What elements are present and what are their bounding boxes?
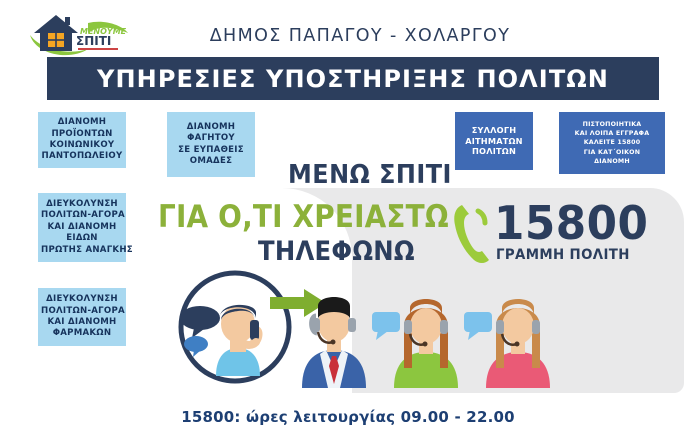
line: ΟΜΑΔΕΣ	[170, 156, 252, 167]
line: ΠΟΛΙΤΩΝ-ΑΓΟΡΑ	[41, 210, 123, 221]
service-box-farmaka-lines: ΔΙΕΥΚΟΛΥΝΣΗ ΠΟΛΙΤΩΝ-ΑΓΟΡΑ ΚΑΙ ΔΙΑΝΟΜΗ ΦΑ…	[41, 294, 123, 339]
service-box-pistopoiitika[interactable]: ΠΙΣΤΟΠΟΙΗΤΙΚΑ ΚΑΙ ΛΟΙΠΑ ΕΓΓΡΑΦΑ ΚΑΛΕΙΤΕ …	[559, 112, 665, 174]
svg-text:ΣΠΙΤΙ: ΣΠΙΤΙ	[76, 34, 111, 48]
service-box-agora-eidon[interactable]: ΔΙΕΥΚΟΛΥΝΣΗ ΠΟΛΙΤΩΝ-ΑΓΟΡΑ ΚΑΙ ΔΙΑΝΟΜΗ ΕΙ…	[38, 193, 126, 262]
line: ΠΡΩΤΗΣ ΑΝΑΓΚΗΣ	[41, 245, 123, 256]
service-box-pistopoiitika-lines: ΠΙΣΤΟΠΟΙΗΤΙΚΑ ΚΑΙ ΛΟΙΠΑ ΕΓΓΡΑΦΑ ΚΑΛΕΙΤΕ …	[562, 120, 662, 166]
phone-handset-icon	[452, 203, 494, 265]
agent-female-pink-top	[486, 299, 550, 388]
line: ΠΟΛΙΤΩΝ	[458, 146, 530, 157]
operating-hours-footer: 15800: ώρες λειτουργίας 09.00 - 22.00	[0, 408, 696, 426]
municipality-title: ΔΗΜΟΣ ΠΑΠΑΓΟΥ - ΧΟΛΑΡΓΟΥ	[150, 26, 570, 46]
line: ΚΑΙ ΔΙΑΝΟΜΗ	[41, 317, 123, 328]
line: ΠΙΣΤΟΠΟΙΗΤΙΚΑ	[562, 120, 662, 129]
line: ΠΑΝΤΟΠΩΛΕΙΟΥ	[41, 151, 123, 162]
line: ΦΑΡΜΑΚΩΝ	[41, 328, 123, 339]
line: ΚΑΙ ΔΙΑΝΟΜΗ	[41, 222, 123, 233]
line: ΔΙΑΝΟΜΗ	[41, 117, 123, 128]
service-box-farmaka[interactable]: ΔΙΕΥΚΟΛΥΝΣΗ ΠΟΛΙΤΩΝ-ΑΓΟΡΑ ΚΑΙ ΔΙΑΝΟΜΗ ΦΑ…	[38, 288, 126, 346]
speech-bubble-2	[464, 312, 492, 340]
hotline-caption: ΓΡΑΜΜΗ ΠΟΛΙΤΗ	[496, 247, 630, 263]
line: ΣΥΛΛΟΓΗ	[458, 125, 530, 136]
slogan-line-tilefono: ΤΗΛΕΦΩΝΩ	[258, 236, 415, 267]
line: ΓΙΑ ΚΑΤ´ΟΙΚΟΝ	[562, 148, 662, 157]
line: ΑΙΤΗΜΑΤΩΝ	[458, 136, 530, 147]
line: ΣΕ ΕΥΠΑΘΕΙΣ	[170, 145, 252, 156]
call-center-agents-illustration	[296, 276, 554, 388]
infographic-poster: ΜΕΝΟΥΜΕ ΣΠΙΤΙ ΔΗΜΟΣ ΠΑΠΑΓΟΥ - ΧΟΛΑΡΓΟΥ Υ…	[0, 0, 696, 447]
line: ΔΙΕΥΚΟΛΥΝΣΗ	[41, 294, 123, 305]
service-box-fagito[interactable]: ΔΙΑΝΟΜΗ ΦΑΓΗΤΟΥ ΣΕ ΕΥΠΑΘΕΙΣ ΟΜΑΔΕΣ	[167, 112, 255, 177]
line: ΔΙΑΝΟΜΗ	[170, 122, 252, 133]
line: ΚΑΙ ΛΟΙΠΑ ΕΓΓΡΑΦΑ	[562, 129, 662, 138]
agent-male-navy-suit	[302, 297, 366, 388]
service-box-pantopoleio-lines: ΔΙΑΝΟΜΗ ΠΡΟΪΟΝΤΩΝ ΚΟΙΝΩΝΙΚΟΥ ΠΑΝΤΟΠΩΛΕΙΟ…	[41, 117, 123, 162]
citizen-calling-illustration	[176, 268, 294, 386]
line: ΦΑΓΗΤΟΥ	[170, 133, 252, 144]
menoume-spiti-logo: ΜΕΝΟΥΜΕ ΣΠΙΤΙ	[26, 9, 132, 61]
line: ΔΙΕΥΚΟΛΥΝΣΗ	[41, 199, 123, 210]
line: ΠΟΛΙΤΩΝ-ΑΓΟΡΑ	[41, 306, 123, 317]
service-box-agora-eidon-lines: ΔΙΕΥΚΟΛΥΝΣΗ ΠΟΛΙΤΩΝ-ΑΓΟΡΑ ΚΑΙ ΔΙΑΝΟΜΗ ΕΙ…	[41, 199, 123, 256]
agent-female-green-top	[394, 299, 458, 388]
line: ΚΟΙΝΩΝΙΚΟΥ	[41, 140, 123, 151]
service-box-aitimata-lines: ΣΥΛΛΟΓΗ ΑΙΤΗΜΑΤΩΝ ΠΟΛΙΤΩΝ	[458, 125, 530, 157]
service-box-pantopoleio[interactable]: ΔΙΑΝΟΜΗ ΠΡΟΪΟΝΤΩΝ ΚΟΙΝΩΝΙΚΟΥ ΠΑΝΤΟΠΩΛΕΙΟ…	[38, 112, 126, 168]
line: ΠΡΟΪΟΝΤΩΝ	[41, 129, 123, 140]
services-banner: ΥΠΗΡΕΣΙΕΣ ΥΠΟΣΤΗΡΙΞΗΣ ΠΟΛΙΤΩΝ	[47, 57, 659, 100]
slogan-line-gia-oti-chreiasto: ΓΙΑ Ο,ΤΙ ΧΡΕΙΑΣΤΩ	[158, 199, 449, 235]
service-box-fagito-lines: ΔΙΑΝΟΜΗ ΦΑΓΗΤΟΥ ΣΕ ΕΥΠΑΘΕΙΣ ΟΜΑΔΕΣ	[170, 122, 252, 167]
service-box-aitimata[interactable]: ΣΥΛΛΟΓΗ ΑΙΤΗΜΑΤΩΝ ΠΟΛΙΤΩΝ	[455, 112, 533, 170]
speech-bubble-1	[372, 312, 400, 340]
line: ΕΙΔΩΝ	[41, 233, 123, 244]
services-banner-label: ΥΠΗΡΕΣΙΕΣ ΥΠΟΣΤΗΡΙΞΗΣ ΠΟΛΙΤΩΝ	[97, 65, 609, 93]
line: ΚΑΛΕΙΤΕ 15800	[562, 138, 662, 147]
line: ΔΙΑΝΟΜΗ	[562, 157, 662, 166]
slogan-line-meno-spiti: ΜΕΝΩ ΣΠΙΤΙ	[288, 160, 452, 190]
hotline-number: 15800	[494, 200, 648, 246]
